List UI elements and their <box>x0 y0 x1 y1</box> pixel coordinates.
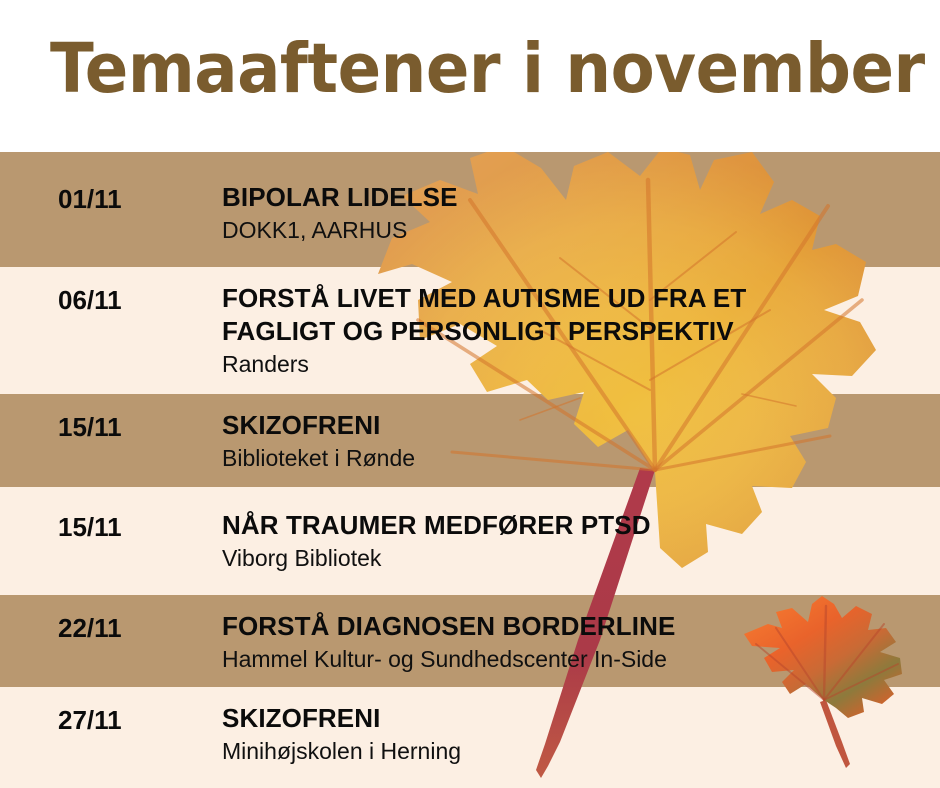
table-row: 15/11 SKIZOFRENI Biblioteket i Rønde <box>0 394 940 487</box>
event-text-group: NÅR TRAUMER MEDFØRER PTSD Viborg Bibliot… <box>222 509 922 573</box>
event-venue: Hammel Kultur- og Sundhedscenter In-Side <box>222 644 922 674</box>
event-title: FORSTÅ DIAGNOSEN BORDERLINE <box>222 610 922 643</box>
table-row: 06/11 FORSTÅ LIVET MED AUTISME UD FRA ET… <box>0 267 940 394</box>
event-title: FORSTÅ LIVET MED AUTISME UD FRA ET FAGLI… <box>222 282 922 348</box>
page-title: Temaaftener i november <box>50 26 841 112</box>
table-row: 01/11 BIPOLAR LIDELSE DOKK1, AARHUS <box>0 152 940 267</box>
poster-canvas: Temaaftener i november 01/11 BIPOLAR LID… <box>0 0 940 788</box>
event-venue: Viborg Bibliotek <box>222 543 922 573</box>
event-venue: DOKK1, AARHUS <box>222 215 922 245</box>
event-venue: Minihøjskolen i Herning <box>222 736 922 766</box>
event-title: SKIZOFRENI <box>222 702 922 735</box>
event-text-group: FORSTÅ LIVET MED AUTISME UD FRA ET FAGLI… <box>222 282 922 379</box>
title-bar: Temaaftener i november <box>0 0 940 152</box>
table-row: 27/11 SKIZOFRENI Minihøjskolen i Herning <box>0 687 940 788</box>
event-text-group: SKIZOFRENI Biblioteket i Rønde <box>222 409 922 473</box>
event-text-group: BIPOLAR LIDELSE DOKK1, AARHUS <box>222 181 922 245</box>
event-title: BIPOLAR LIDELSE <box>222 181 922 214</box>
table-row: 22/11 FORSTÅ DIAGNOSEN BORDERLINE Hammel… <box>0 595 940 687</box>
event-date: 06/11 <box>58 285 198 315</box>
event-date: 01/11 <box>58 184 198 214</box>
event-title: NÅR TRAUMER MEDFØRER PTSD <box>222 509 922 542</box>
event-venue: Biblioteket i Rønde <box>222 443 922 473</box>
event-text-group: SKIZOFRENI Minihøjskolen i Herning <box>222 702 922 766</box>
event-date: 15/11 <box>58 412 198 442</box>
event-text-group: FORSTÅ DIAGNOSEN BORDERLINE Hammel Kultu… <box>222 610 922 674</box>
event-title: SKIZOFRENI <box>222 409 922 442</box>
event-date: 27/11 <box>58 705 198 735</box>
event-venue: Randers <box>222 349 922 379</box>
event-date: 15/11 <box>58 512 198 542</box>
table-row: 15/11 NÅR TRAUMER MEDFØRER PTSD Viborg B… <box>0 487 940 595</box>
event-date: 22/11 <box>58 613 198 643</box>
